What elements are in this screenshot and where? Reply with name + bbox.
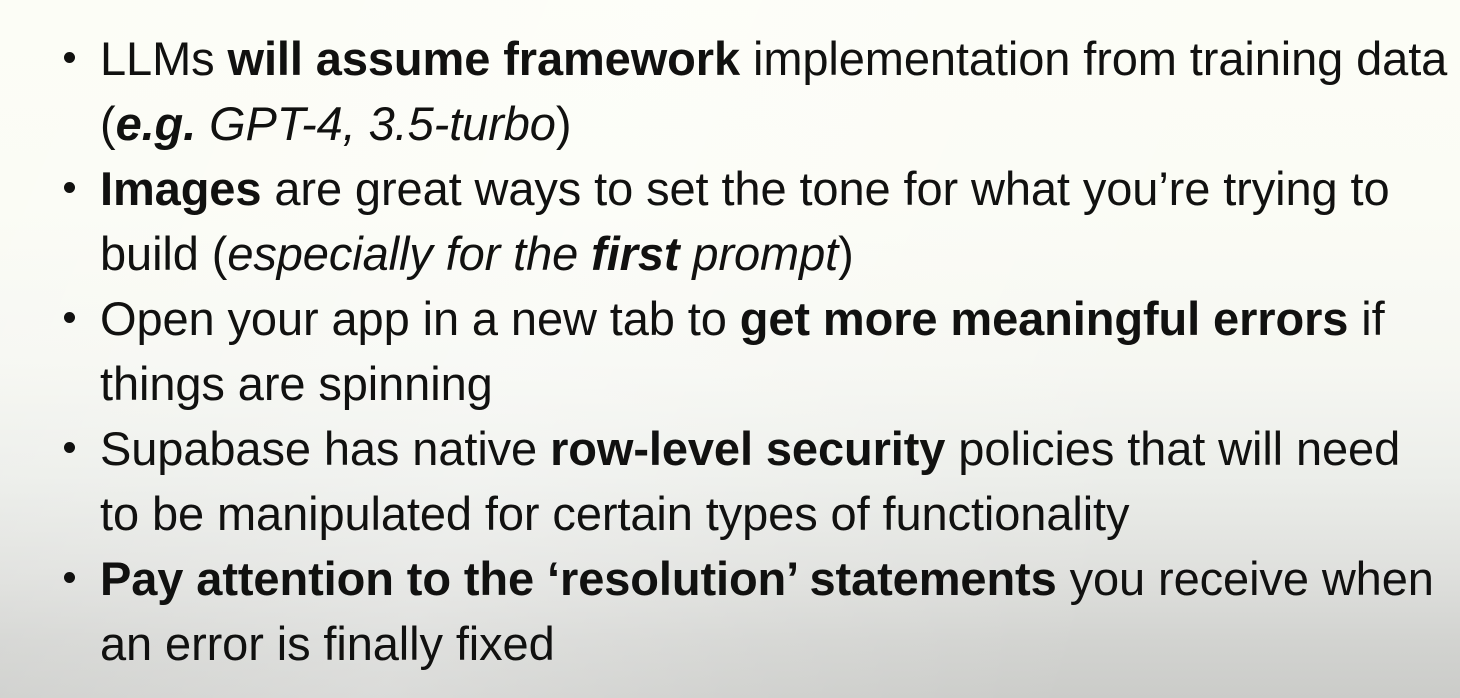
text-run-normal: Open your app in a new tab to <box>100 292 740 345</box>
bullet-point-icon <box>64 312 75 323</box>
bullet-text-2: Images are great ways to set the tone fo… <box>100 162 1390 280</box>
bullet-point-icon <box>64 572 75 583</box>
text-run-normal: Supabase has native <box>100 422 550 475</box>
slide-canvas: LLMs will assume framework implementatio… <box>0 0 1460 698</box>
bullet-text-1: LLMs will assume framework implementatio… <box>100 32 1447 150</box>
text-run-italic: especially for the <box>227 227 591 280</box>
text-run-bold: Images <box>100 162 261 215</box>
text-run-italic: prompt <box>679 227 838 280</box>
text-run-normal: LLMs <box>100 32 228 85</box>
bullet-item-2: Images are great ways to set the tone fo… <box>0 156 1460 286</box>
text-run-normal: ) <box>838 227 854 280</box>
text-run-bold: get more meaningful errors <box>740 292 1349 345</box>
text-run-bold-italic: first <box>591 227 679 280</box>
bullet-item-4: Supabase has native row-level security p… <box>0 416 1460 546</box>
bullet-item-3: Open your app in a new tab to get more m… <box>0 286 1460 416</box>
text-run-bold: Pay attention to the ‘resolution’ statem… <box>100 552 1057 605</box>
text-run-bold-italic: e.g. <box>116 97 197 150</box>
bullet-list: LLMs will assume framework implementatio… <box>0 0 1460 676</box>
text-run-italic: GPT-4, 3.5-turbo <box>196 97 556 150</box>
bullet-point-icon <box>64 52 75 63</box>
bullet-text-4: Supabase has native row-level security p… <box>100 422 1400 540</box>
bullet-item-5: Pay attention to the ‘resolution’ statem… <box>0 546 1460 676</box>
bullet-item-1: LLMs will assume framework implementatio… <box>0 26 1460 156</box>
bullet-text-3: Open your app in a new tab to get more m… <box>100 292 1385 410</box>
bullet-text-5: Pay attention to the ‘resolution’ statem… <box>100 552 1434 670</box>
text-run-bold: will assume framework <box>228 32 741 85</box>
text-run-normal: ) <box>556 97 572 150</box>
text-run-bold: row-level security <box>550 422 945 475</box>
bullet-point-icon <box>64 442 75 453</box>
bullet-point-icon <box>64 182 75 193</box>
